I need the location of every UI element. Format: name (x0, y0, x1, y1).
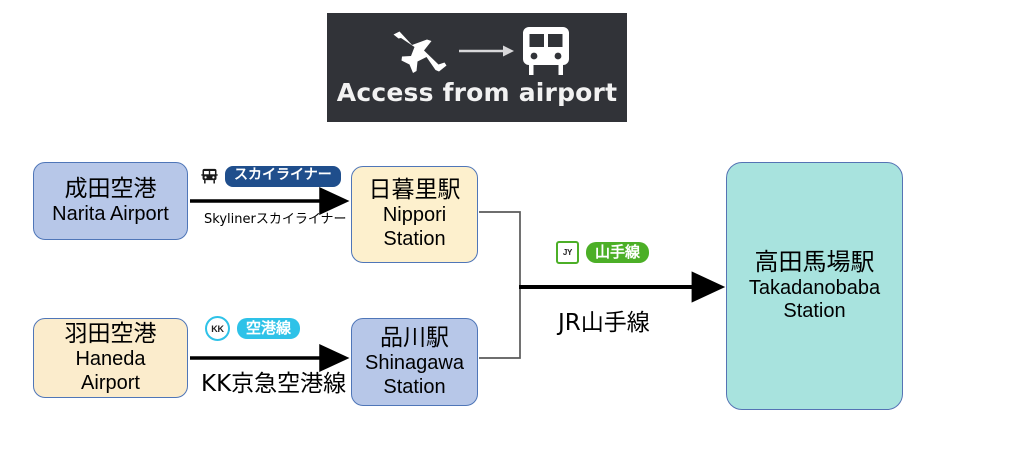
badge-yamanote: JY 山手線 (556, 241, 649, 264)
node-label-en-2: Station (783, 300, 845, 324)
node-label-jp: 成田空港 (65, 176, 157, 203)
node-label-en: Takadanobaba (749, 277, 880, 301)
node-label-en: Shinagawa (365, 352, 464, 376)
badge-skyliner: スカイライナー (200, 166, 341, 187)
airplane-icon (383, 26, 451, 76)
node-label-en-2: Station (383, 228, 445, 252)
node-label-en: Haneda (75, 348, 145, 372)
node-label-en: Narita Airport (52, 203, 169, 227)
edge-merge-to-yamanote (479, 212, 520, 358)
node-label-jp: 日暮里駅 (369, 177, 461, 204)
node-label-jp: 羽田空港 (65, 321, 157, 348)
right-arrow-icon (457, 40, 515, 62)
node-nippori-station[interactable]: 日暮里駅 Nippori Station (351, 166, 478, 263)
node-label-en-2: Airport (81, 372, 140, 396)
caption-keikyu: KK京急空港線 (201, 364, 346, 398)
node-label-en-2: Station (383, 376, 445, 400)
banner-title: Access from airport (337, 80, 617, 105)
train-icon (200, 167, 218, 185)
node-haneda-airport[interactable]: 羽田空港 Haneda Airport (33, 318, 188, 398)
node-label-en: Nippori (383, 204, 446, 228)
yamanote-line-pill: 山手線 (586, 242, 649, 264)
skyliner-line-pill: スカイライナー (225, 166, 341, 187)
keikyu-kk-symbol-icon: KK (205, 316, 230, 341)
header-banner: Access from airport (327, 13, 627, 122)
kuko-line-pill: 空港線 (237, 318, 300, 340)
node-label-jp: 高田馬場駅 (755, 248, 875, 276)
train-front-icon (521, 25, 571, 77)
node-label-jp: 品川駅 (380, 325, 449, 352)
node-takadanobaba-station[interactable]: 高田馬場駅 Takadanobaba Station (726, 162, 903, 410)
badge-keikyu: KK 空港線 (205, 316, 300, 341)
banner-icon-row (383, 24, 571, 78)
node-shinagawa-station[interactable]: 品川駅 Shinagawa Station (351, 318, 478, 406)
caption-yamanote: JR山手線 (558, 303, 650, 337)
yamanote-jy-symbol-icon: JY (556, 241, 579, 264)
caption-skyliner: Skylinerスカイライナー (204, 208, 347, 227)
node-narita-airport[interactable]: 成田空港 Narita Airport (33, 162, 188, 240)
